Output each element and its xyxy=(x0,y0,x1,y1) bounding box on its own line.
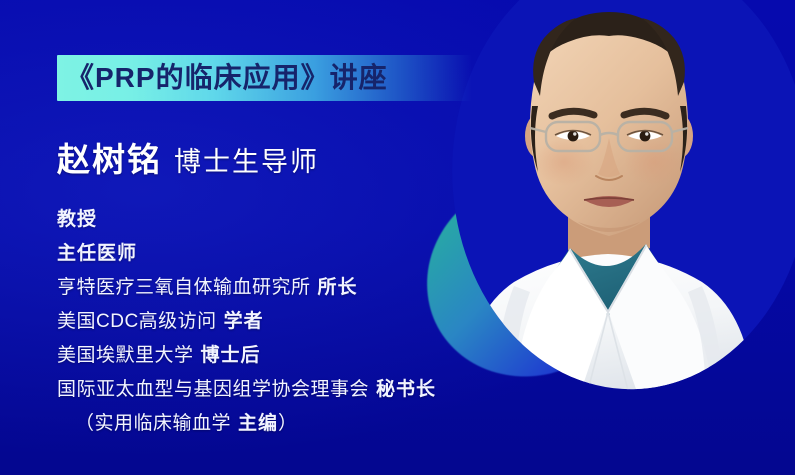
credential-line: 美国埃默里大学博士后 xyxy=(57,339,497,373)
credential-highlight: 博士后 xyxy=(201,345,261,366)
credential-text: 教授 xyxy=(57,209,97,230)
credential-line: 主任医师 xyxy=(57,237,497,271)
credential-line: 美国CDC高级访问学者 xyxy=(57,305,497,339)
lecture-title: 《PRP的临床应用》讲座 xyxy=(66,57,388,99)
credential-line: 亨特医疗三氧自体输血研究所所长 xyxy=(57,271,497,305)
speaker-title-card: 《PRP的临床应用》讲座 赵树铭博士生导师 教授主任医师亨特医疗三氧自体输血研究… xyxy=(0,0,795,475)
speaker-name: 赵树铭 xyxy=(57,141,162,178)
credential-list: 教授主任医师亨特医疗三氧自体输血研究所所长美国CDC高级访问学者美国埃默里大学博… xyxy=(57,203,497,441)
credential-highlight: 主编 xyxy=(238,413,278,434)
credential-highlight: 秘书长 xyxy=(376,379,436,400)
credential-text: 美国埃默里大学 xyxy=(57,345,194,366)
credential-line: （实用临床输血学主编） xyxy=(57,407,497,441)
credential-line: 国际亚太血型与基因组学协会理事会秘书长 xyxy=(57,373,497,407)
speaker-role: 博士生导师 xyxy=(174,147,319,177)
credential-highlight: 学者 xyxy=(224,311,264,332)
credential-highlight: 所长 xyxy=(318,277,358,298)
credential-text: 主任医师 xyxy=(57,243,137,264)
credential-text: 国际亚太血型与基因组学协会理事会 xyxy=(57,379,369,400)
credential-text: 美国CDC高级访问 xyxy=(57,311,217,332)
credential-suffix: ） xyxy=(278,413,298,434)
credential-line: 教授 xyxy=(57,203,497,237)
speaker-name-row: 赵树铭博士生导师 xyxy=(57,133,319,181)
credential-text: （实用临床输血学 xyxy=(75,413,231,434)
credential-text: 亨特医疗三氧自体输血研究所 xyxy=(57,277,311,298)
